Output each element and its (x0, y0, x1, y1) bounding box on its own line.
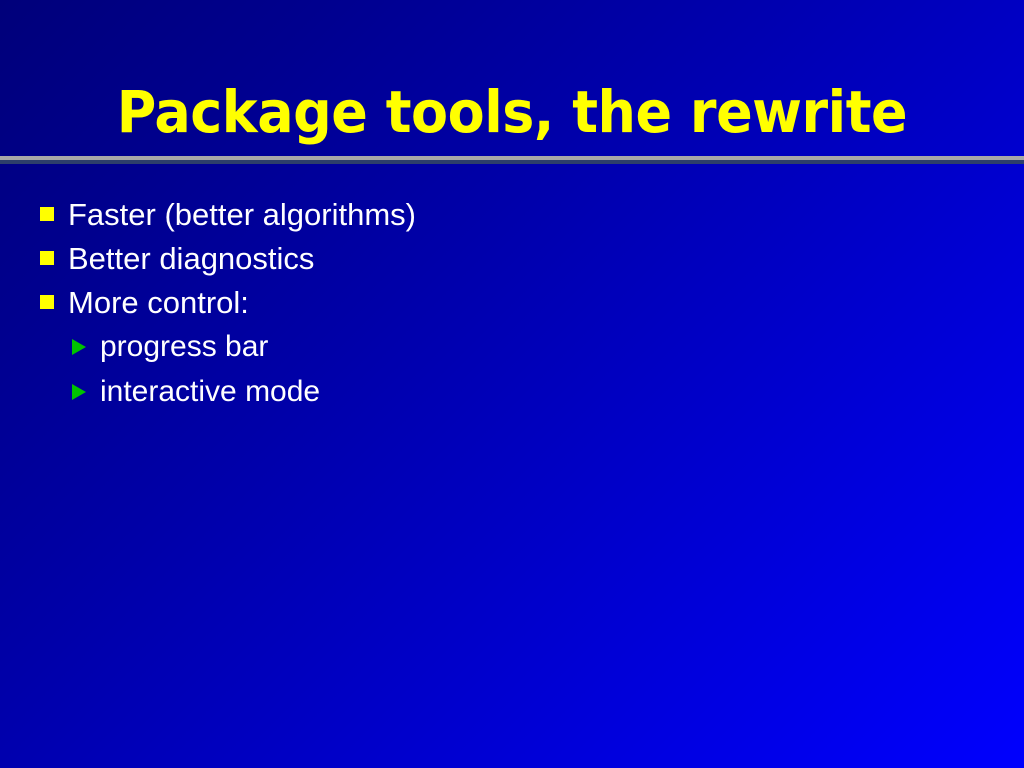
sub-bullet-item: interactive mode (0, 373, 1024, 418)
bullet-item: Faster (better algorithms) (0, 196, 1024, 240)
bullet-item-label: Faster (better algorithms) (68, 196, 416, 234)
sub-bullet-item: progress bar (0, 328, 1024, 373)
square-bullet-icon (40, 251, 54, 265)
triangle-bullet-icon (72, 339, 86, 355)
bullet-item-label: More control: (68, 284, 249, 322)
square-bullet-icon (40, 295, 54, 309)
slide-bullet-list: Faster (better algorithms) Better diagno… (0, 196, 1024, 418)
presentation-slide: Package tools, the rewrite Faster (bette… (0, 0, 1024, 768)
bullet-item-label: Better diagnostics (68, 240, 314, 278)
bullet-item: More control: (0, 284, 1024, 328)
slide-title-block: Package tools, the rewrite (0, 74, 1024, 150)
title-divider-shadow (0, 160, 1024, 164)
slide-title: Package tools, the rewrite (117, 81, 907, 143)
sub-bullet-item-label: interactive mode (100, 373, 320, 411)
bullet-item: Better diagnostics (0, 240, 1024, 284)
sub-bullet-item-label: progress bar (100, 328, 268, 366)
square-bullet-icon (40, 207, 54, 221)
triangle-bullet-icon (72, 384, 86, 400)
